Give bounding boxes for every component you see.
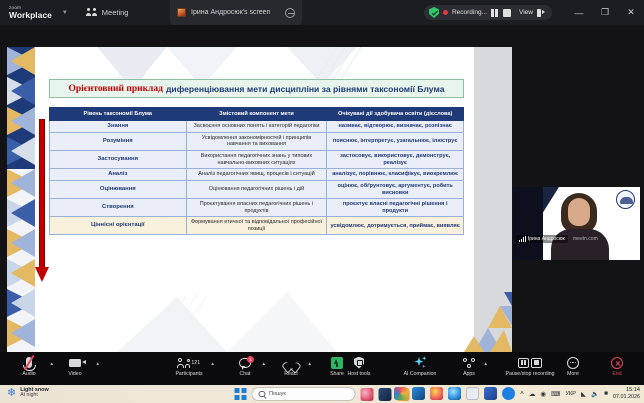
participants-count: 121: [191, 360, 200, 366]
table-row: ОцінюванняОцінювання педагогічних рішень…: [50, 181, 464, 199]
view-label[interactable]: View: [519, 9, 533, 16]
table-cell-content: Проєктування власних педагогічних рішень…: [186, 199, 327, 217]
table-cell-level: Розуміння: [50, 132, 187, 150]
taskbar-app-icon-7[interactable]: [448, 387, 461, 400]
meeting-label: Meeting: [102, 8, 129, 17]
table-cell-actions: усвідомлює, дотримується, приймає, виявл…: [327, 217, 464, 235]
toolbar-video-label: Video: [68, 371, 81, 377]
table-header-level: Рівень таксономії Блума: [50, 108, 187, 121]
video-chevron-icon[interactable]: ▲: [96, 361, 100, 366]
minimize-tab-icon[interactable]: [285, 8, 295, 18]
table-cell-content: Формування етичної та відповідальної про…: [186, 217, 327, 235]
microphone-muted-icon: [26, 355, 32, 370]
battery-icon[interactable]: ■: [604, 390, 608, 397]
taskbar-app-icon-5[interactable]: [412, 387, 425, 400]
recording-dot-icon: [443, 10, 448, 15]
toolbar-host-tools-button[interactable]: Host tools: [336, 355, 382, 377]
slide-title-rest: диференціювання мети дисципліни за рівня…: [166, 84, 445, 94]
table-row: Ціннісні орієнтаціїФормування етичної та…: [50, 217, 464, 235]
slide-decoration-left: [7, 47, 35, 352]
window-maximize-button[interactable]: ❐: [592, 0, 618, 25]
table-cell-level: Застосування: [50, 150, 187, 168]
shared-screen-tab-label: Ірина Андросюк's screen: [191, 9, 270, 16]
participant-video-tile[interactable]: meetn.com Ірина Андросюк: [513, 187, 640, 260]
toolbar-participants-label: Participants: [175, 371, 202, 377]
clock-date: 07.01.2026: [613, 394, 640, 400]
meeting-menu[interactable]: Meeting: [86, 8, 129, 17]
participants-chevron-icon[interactable]: ▲: [211, 361, 215, 366]
taskbar-weather-widget[interactable]: ❄ Light snow At night: [7, 387, 49, 399]
zoom-logo: zoom Workplace: [9, 6, 52, 20]
camera-icon: [69, 355, 81, 370]
windows-start-icon[interactable]: [235, 388, 247, 400]
windows-taskbar: ❄ Light snow At night Пошук ˄ ☁ ◉ ⌨ УКР …: [0, 385, 644, 403]
apps-chevron-icon[interactable]: ▲: [484, 361, 488, 366]
taskbar-app-icon-6[interactable]: [430, 387, 443, 400]
toolbar-ai-companion-button[interactable]: AI Companion: [390, 355, 450, 377]
table-cell-level: Ціннісні орієнтації: [50, 217, 187, 235]
table-cell-level: Оцінювання: [50, 181, 187, 199]
table-cell-level: Аналіз: [50, 169, 187, 181]
toolbar-video-button[interactable]: Video ▲: [52, 355, 98, 377]
toolbar-host-tools-label: Host tools: [347, 371, 370, 377]
taskbar-clock[interactable]: 15:14 07.01.2026: [613, 387, 640, 400]
table-header-row: Рівень таксономії Блума Змістовий компон…: [50, 108, 464, 121]
shared-screen-tab[interactable]: Ірина Андросюк's screen: [170, 0, 302, 25]
taskbar-app-icon-10[interactable]: [502, 387, 515, 400]
participants-icon: 121: [178, 355, 200, 370]
shield-icon[interactable]: [429, 7, 439, 18]
signal-strength-icon: [519, 236, 526, 242]
toolbar-ai-companion-label: AI Companion: [404, 371, 437, 377]
toolbar-more-button[interactable]: More: [556, 355, 590, 377]
table-cell-content: Усвідомлення закономірностей і принципів…: [186, 132, 327, 150]
language-indicator[interactable]: УКР: [565, 391, 576, 397]
table-cell-actions: застосовує, використовує, демонструє, ре…: [327, 150, 464, 168]
apps-icon: [463, 355, 475, 370]
taskbar-app-icon-8[interactable]: [466, 387, 479, 400]
heart-reaction-icon: [286, 355, 297, 370]
stop-icon[interactable]: [503, 9, 511, 17]
keyboard-icon[interactable]: ⌨: [551, 390, 560, 398]
slide-content: Орієнтовний приклад диференціювання мети…: [35, 47, 474, 352]
table-cell-content: Оцінювання педагогічних рішень і дій: [186, 181, 327, 199]
participant-name-badge: Ірина Андросюк: [516, 235, 568, 243]
zoom-brand-main: Workplace: [9, 11, 52, 20]
end-call-icon: [611, 355, 623, 370]
chat-unread-badge: 1: [247, 356, 254, 363]
table-cell-actions: оцінює, обґрунтовує, аргументує, робить …: [327, 181, 464, 199]
meeting-toolbar: Audio ▲ Video ▲ 121 Participants ▲ 1 Cha…: [0, 352, 644, 385]
participant-name-label: Ірина Андросюк: [528, 236, 565, 242]
table-cell-actions: пояснює, інтерпретує, узагальнює, ілюстр…: [327, 132, 464, 150]
slide-title-accent: Орієнтовний приклад: [68, 84, 162, 94]
toolbar-apps-label: Apps: [463, 371, 475, 377]
taskbar-app-icon-1[interactable]: [361, 388, 374, 401]
toolbar-end-label: End: [612, 371, 621, 377]
table-cell-content: Використання педагогічних знань у типови…: [186, 150, 327, 168]
table-row: АналізАналіз педагогічних явищ, процесів…: [50, 169, 464, 181]
onedrive-icon[interactable]: ☁: [529, 390, 536, 398]
taskbar-center-group: Пошук: [235, 387, 410, 401]
table-cell-level: Створення: [50, 199, 187, 217]
table-cell-level: Знання: [50, 121, 187, 133]
window-minimize-button[interactable]: —: [566, 0, 592, 25]
show-hidden-icons-icon[interactable]: ˄: [520, 390, 524, 397]
table-cell-content: Засвоєння основних понять і категорій пе…: [186, 121, 327, 133]
toolbar-react-button[interactable]: React ▲: [268, 355, 314, 377]
red-down-arrow-icon: [35, 119, 49, 284]
taskbar-right-group: ˄ ☁ ◉ ⌨ УКР ◣ 🔈 ■ 15:14 07.01.2026: [394, 387, 640, 400]
view-layout-icon[interactable]: [537, 9, 545, 17]
shared-slide: Орієнтовний приклад диференціювання мети…: [7, 47, 512, 352]
slide-title: Орієнтовний приклад диференціювання мети…: [49, 79, 464, 98]
table-row: ЗастосуванняВикористання педагогічних зн…: [50, 150, 464, 168]
ai-sparkle-icon: [414, 355, 427, 370]
toolbar-more-label: More: [567, 371, 579, 377]
recording-status-label: Recording...: [452, 9, 487, 16]
snowflake-icon: ❄: [7, 388, 16, 399]
chat-icon: 1: [239, 355, 251, 370]
toolbar-chat-button[interactable]: 1 Chat ▲: [222, 355, 268, 377]
antivirus-icon[interactable]: ◉: [540, 390, 546, 398]
pause-icon[interactable]: [491, 9, 499, 17]
table-header-content: Змістовий компонент мети: [186, 108, 327, 121]
app-icon: [177, 8, 186, 17]
volume-icon[interactable]: 🔈: [591, 390, 599, 398]
table-header-actions: Очікувані дії здобувача освіти (дієслова…: [327, 108, 464, 121]
host-tools-shield-icon: [354, 355, 364, 370]
chevron-down-icon[interactable]: ▼: [62, 10, 68, 16]
people-icon: [86, 8, 97, 17]
weather-detail: At night: [20, 393, 48, 399]
taskbar-app-icon-9[interactable]: [484, 387, 497, 400]
organization-logo-icon: [616, 190, 635, 209]
table-row: ЗнанняЗасвоєння основних понять і катего…: [50, 121, 464, 133]
meeting-stage: Орієнтовний приклад диференціювання мети…: [0, 25, 644, 352]
zoom-title-bar: zoom Workplace ▼ Meeting Ірина Андросюк'…: [0, 0, 644, 25]
table-cell-content: Аналіз педагогічних явищ, процесів і сит…: [186, 169, 327, 181]
taskbar-app-icon-2[interactable]: [379, 388, 392, 401]
chat-chevron-icon[interactable]: ▲: [262, 361, 266, 366]
taxonomy-table: Рівень таксономії Блума Змістовий компон…: [49, 107, 464, 235]
pause-stop-recording-icon: [518, 355, 542, 370]
recording-controls: Recording... View: [424, 5, 552, 20]
wifi-icon[interactable]: ◣: [581, 390, 586, 398]
toolbar-apps-button[interactable]: Apps ▲: [452, 355, 486, 377]
toolbar-audio-label: Audio: [22, 371, 35, 377]
toolbar-participants-button[interactable]: 121 Participants ▲: [166, 355, 212, 377]
taskbar-app-icon-4[interactable]: [394, 387, 407, 400]
table-cell-actions: називає, відтворює, визначає, розпізнає: [327, 121, 464, 133]
window-close-button[interactable]: ✕: [618, 0, 644, 25]
watermark-label: meetn.com: [573, 236, 598, 242]
toolbar-recording-label: Pause/stop recording: [505, 371, 554, 377]
search-placeholder: Пошук: [269, 391, 286, 397]
taskbar-search-box[interactable]: Пошук: [252, 387, 356, 401]
toolbar-end-button[interactable]: End: [600, 355, 634, 377]
toolbar-chat-label: Chat: [240, 371, 251, 377]
table-row: РозумінняУсвідомлення закономірностей і …: [50, 132, 464, 150]
table-row: СтворенняПроєктування власних педагогічн…: [50, 199, 464, 217]
table-cell-actions: проєктує власні педагогічні рішення і пр…: [327, 199, 464, 217]
toolbar-audio-button[interactable]: Audio ▲: [6, 355, 52, 377]
react-chevron-icon[interactable]: ▲: [308, 361, 312, 366]
table-cell-actions: аналізує, порівнює, класифікує, виокремл…: [327, 169, 464, 181]
more-options-icon: [567, 355, 579, 370]
search-icon: [259, 391, 266, 398]
